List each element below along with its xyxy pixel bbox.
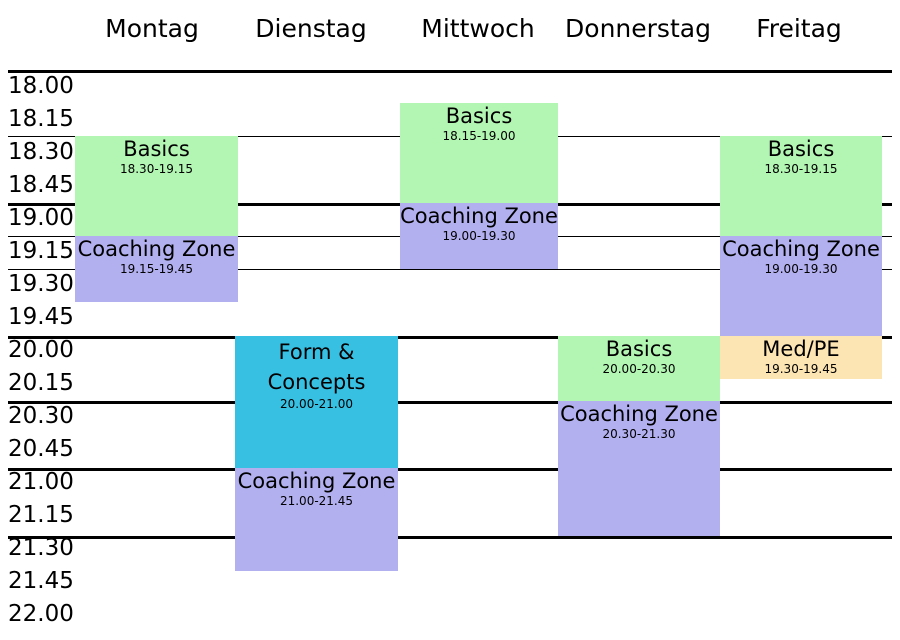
event-time: 18.30-19.15 (75, 162, 238, 176)
time-label-19-15: 19.15 (8, 236, 72, 266)
day-header-freitag: Freitag (699, 12, 899, 46)
event-title: Coaching Zone (720, 237, 882, 262)
time-label-18-00: 18.00 (8, 71, 72, 101)
event-block[interactable]: Basics18.30-19.15 (720, 136, 882, 236)
time-label-20-30: 20.30 (8, 401, 72, 431)
grid-line (8, 468, 892, 471)
grid-line (8, 401, 892, 404)
event-time: 20.30-21.30 (558, 427, 720, 441)
event-time: 18.15-19.00 (400, 129, 558, 143)
grid-line (8, 536, 892, 539)
event-time: 19.00-19.30 (720, 262, 882, 276)
event-time: 19.15-19.45 (75, 262, 238, 276)
event-title: Coaching Zone (75, 237, 238, 262)
time-label-21-30: 21.30 (8, 533, 72, 563)
time-label-20-15: 20.15 (8, 368, 72, 398)
event-title: Coaching Zone (235, 469, 398, 494)
event-title: Basics (75, 137, 238, 162)
event-time: 20.00-20.30 (558, 362, 720, 376)
event-block[interactable]: Coaching Zone19.00-19.30 (720, 236, 882, 336)
event-time: 19.00-19.30 (400, 229, 558, 243)
event-time: 21.00-21.45 (235, 494, 398, 508)
time-label-20-00: 20.00 (8, 335, 72, 365)
event-block[interactable]: Basics18.15-19.00 (400, 103, 558, 203)
time-label-19-45: 19.45 (8, 302, 72, 332)
event-block[interactable]: Med/PE19.30-19.45 (720, 336, 882, 379)
event-title: Basics (720, 137, 882, 162)
event-time: 18.30-19.15 (720, 162, 882, 176)
time-label-21-15: 21.15 (8, 500, 72, 530)
time-label-18-30: 18.30 (8, 137, 72, 167)
time-label-19-00: 19.00 (8, 203, 72, 233)
time-label-18-45: 18.45 (8, 170, 72, 200)
event-title: Coaching Zone (558, 402, 720, 427)
weekly-schedule: MontagDienstagMittwochDonnerstagFreitag … (0, 0, 900, 640)
event-title: Coaching Zone (400, 204, 558, 229)
time-label-21-45: 21.45 (8, 566, 72, 596)
event-title: Basics (400, 104, 558, 129)
time-label-22-00: 22.00 (8, 599, 72, 629)
event-title: Basics (558, 337, 720, 362)
event-block[interactable]: Form & Concepts20.00-21.00 (235, 336, 398, 468)
event-title: Form & Concepts (235, 337, 398, 397)
time-label-20-45: 20.45 (8, 434, 72, 464)
event-time: 20.00-21.00 (235, 397, 398, 411)
event-time: 19.30-19.45 (720, 362, 882, 376)
event-block[interactable]: Coaching Zone19.15-19.45 (75, 236, 238, 302)
event-block[interactable]: Basics18.30-19.15 (75, 136, 238, 236)
event-block[interactable]: Coaching Zone21.00-21.45 (235, 468, 398, 571)
grid-line (8, 70, 892, 73)
event-block[interactable]: Coaching Zone20.30-21.30 (558, 401, 720, 536)
time-label-18-15: 18.15 (8, 104, 72, 134)
time-label-21-00: 21.00 (8, 467, 72, 497)
event-block[interactable]: Coaching Zone19.00-19.30 (400, 203, 558, 269)
time-label-19-30: 19.30 (8, 269, 72, 299)
event-block[interactable]: Basics20.00-20.30 (558, 336, 720, 401)
event-title: Med/PE (720, 337, 882, 362)
